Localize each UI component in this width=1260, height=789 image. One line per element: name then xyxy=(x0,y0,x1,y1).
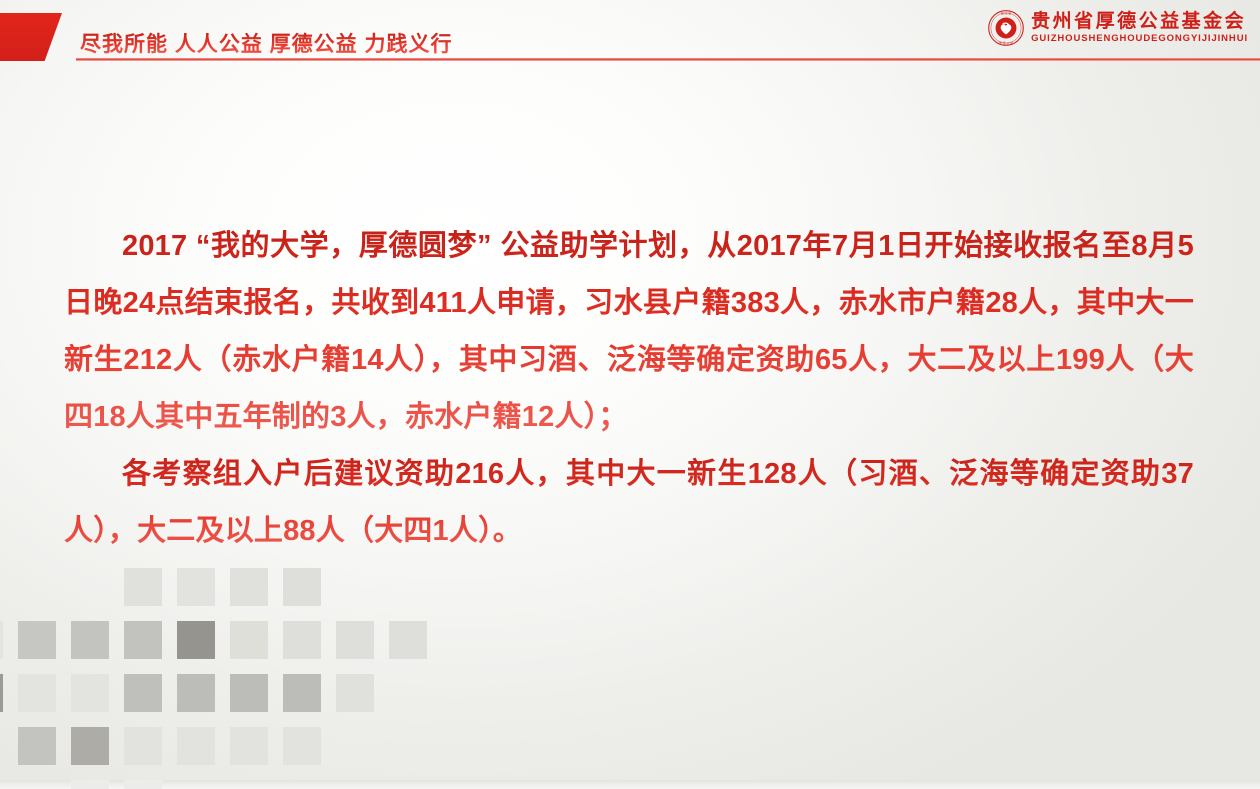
slide-body-text: 2017 “我的大学，厚德圆梦” 公益助学计划，从2017年7月1日开始接收报名… xyxy=(64,218,1194,560)
body-paragraph-1: 2017 “我的大学，厚德圆梦” 公益助学计划，从2017年7月1日开始接收报名… xyxy=(64,218,1194,446)
mosaic-square xyxy=(177,674,215,712)
mosaic-square xyxy=(18,674,56,712)
mosaic-square xyxy=(336,674,374,712)
logo-name-pinyin: GUIZHOUSHENGHOUDEGONGYIJIJINHUI xyxy=(1031,34,1248,44)
mosaic-square xyxy=(230,727,268,765)
mosaic-square xyxy=(230,621,268,659)
mosaic-square xyxy=(283,674,321,712)
mosaic-square xyxy=(283,621,321,659)
svg-text:贵 州 省: 贵 州 省 xyxy=(1001,10,1011,15)
header-slogan: 尽我所能 人人公益 厚德公益 力践义行 xyxy=(80,28,453,58)
foundation-emblem-icon: 贵 州 省 厚 德 公 益 xyxy=(988,10,1024,46)
mosaic-square xyxy=(177,621,215,659)
mosaic-square xyxy=(230,674,268,712)
decorative-square-mosaic xyxy=(0,568,520,789)
mosaic-square xyxy=(336,621,374,659)
mosaic-square xyxy=(230,568,268,606)
body-paragraph-2: 各考察组入户后建议资助216人，其中大一新生128人（习酒、泛海等确定资助37人… xyxy=(64,446,1194,560)
mosaic-square xyxy=(0,621,3,659)
bottom-band xyxy=(0,780,1260,789)
mosaic-square xyxy=(124,727,162,765)
logo-text-block: 贵州省厚德公益基金会 GUIZHOUSHENGHOUDEGONGYIJIJINH… xyxy=(1031,12,1248,44)
organization-logo: 贵 州 省 厚 德 公 益 贵州省厚德公益基金会 GUIZHOUSHENGHOU… xyxy=(988,10,1248,46)
red-tab-shape xyxy=(0,13,62,61)
mosaic-square xyxy=(283,727,321,765)
mosaic-square xyxy=(177,568,215,606)
mosaic-square xyxy=(71,621,109,659)
header-rule-divider xyxy=(76,58,1260,61)
mosaic-square xyxy=(124,621,162,659)
svg-text:厚 德 公 益: 厚 德 公 益 xyxy=(999,40,1013,45)
mosaic-square xyxy=(0,674,3,712)
mosaic-square xyxy=(389,621,427,659)
mosaic-square xyxy=(18,727,56,765)
mosaic-square xyxy=(124,568,162,606)
mosaic-square xyxy=(18,621,56,659)
slide-canvas: 尽我所能 人人公益 厚德公益 力践义行 贵 州 省 厚 德 公 益 贵州省厚德公… xyxy=(0,0,1260,789)
mosaic-square xyxy=(124,674,162,712)
mosaic-square xyxy=(71,727,109,765)
mosaic-square xyxy=(283,568,321,606)
mosaic-square xyxy=(71,674,109,712)
logo-name-cn: 贵州省厚德公益基金会 xyxy=(1031,12,1248,31)
mosaic-square xyxy=(177,727,215,765)
